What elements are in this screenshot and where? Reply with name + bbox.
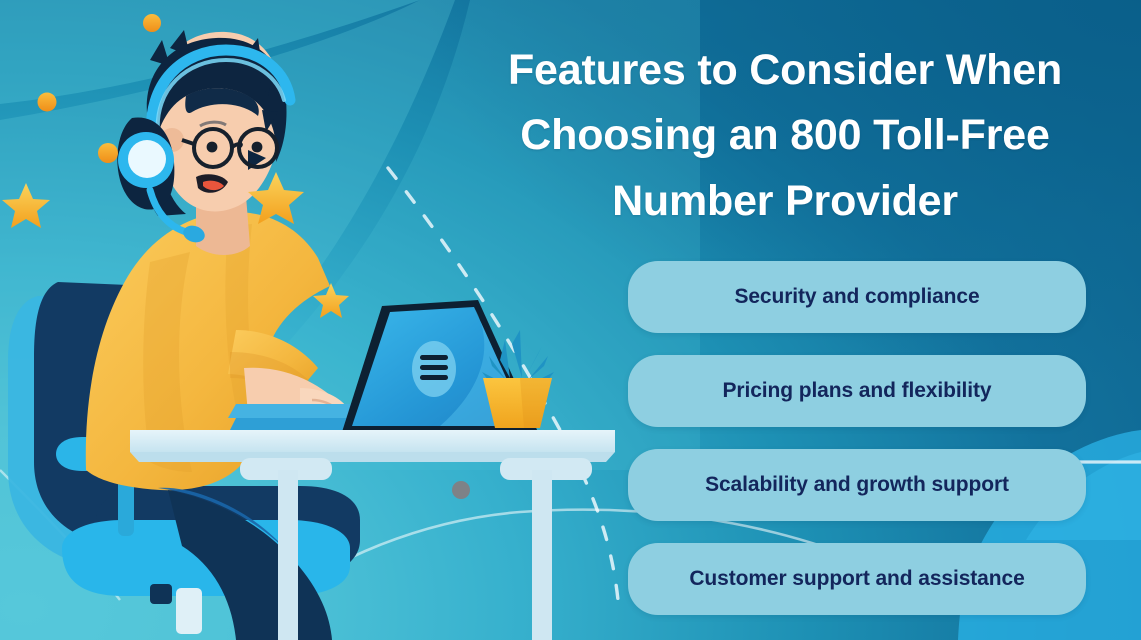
feature-list: Security and compliance Pricing plans an… [628,261,1086,615]
decor-dot-3 [143,14,161,32]
desk-top [130,430,615,452]
desk-leg-right [532,470,552,640]
page-title: Features to Consider When Choosing an 80… [455,38,1115,234]
chair-column [176,588,202,634]
decor-dot-1 [38,93,57,112]
desk-leg-left [278,470,298,640]
feature-pill-support[interactable]: Customer support and assistance [628,543,1086,615]
headset-earcup-pad [128,140,166,178]
feature-pill-scalability[interactable]: Scalability and growth support [628,449,1086,521]
feature-pill-pricing[interactable]: Pricing plans and flexibility [628,355,1086,427]
infographic-banner: Features to Consider When Choosing an 80… [0,0,1141,640]
eye-right [252,142,263,153]
laptop-logo-icon [420,355,448,380]
feature-pill-security[interactable]: Security and compliance [628,261,1086,333]
eye-left [207,142,218,153]
decor-gray-dot [452,481,470,499]
decor-dot-2 [98,143,118,163]
chair-column-joint [150,584,172,604]
